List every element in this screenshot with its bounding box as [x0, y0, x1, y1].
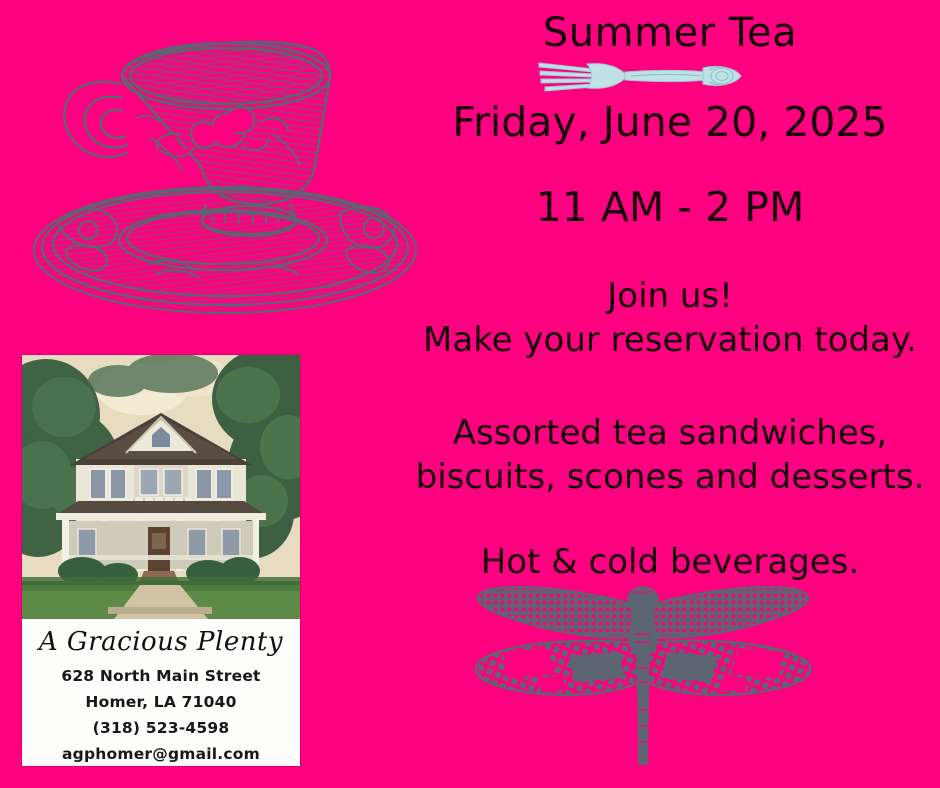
business-card-details: A Gracious Plenty 628 North Main Street … [22, 619, 300, 766]
event-time: 11 AM - 2 PM [400, 186, 940, 229]
house-painting [22, 355, 300, 619]
business-city-state-zip: Homer, LA 71040 [22, 693, 300, 711]
summer-tea-flyer: Summer Tea Friday, June 20, 2025 11 AM -… [0, 0, 940, 788]
invitation-line-1: Join us! [400, 275, 940, 319]
invitation-block: Join us! Make your reservation today. [400, 275, 940, 362]
event-date: Friday, June 20, 2025 [400, 101, 940, 144]
business-phone: (318) 523-4598 [22, 719, 300, 737]
invitation-line-2: Make your reservation today. [400, 319, 940, 363]
business-email: agphomer@gmail.com [22, 745, 300, 763]
business-address: 628 North Main Street [22, 667, 300, 685]
teacup-and-saucer-icon [10, 18, 460, 328]
business-name: A Gracious Plenty [22, 619, 300, 655]
menu-block: Assorted tea sandwiches, biscuits, scone… [400, 412, 940, 499]
flyer-copy: Summer Tea Friday, June 20, 2025 11 AM -… [400, 0, 940, 600]
menu-line-1: Assorted tea sandwiches, [400, 412, 940, 456]
dragonfly-icon [443, 578, 843, 788]
beverages-line: Hot & cold beverages. [400, 544, 940, 580]
business-card: A Gracious Plenty 628 North Main Street … [22, 355, 300, 766]
menu-line-2: biscuits, scones and desserts. [400, 456, 940, 500]
page-title: Summer Tea [400, 12, 940, 54]
